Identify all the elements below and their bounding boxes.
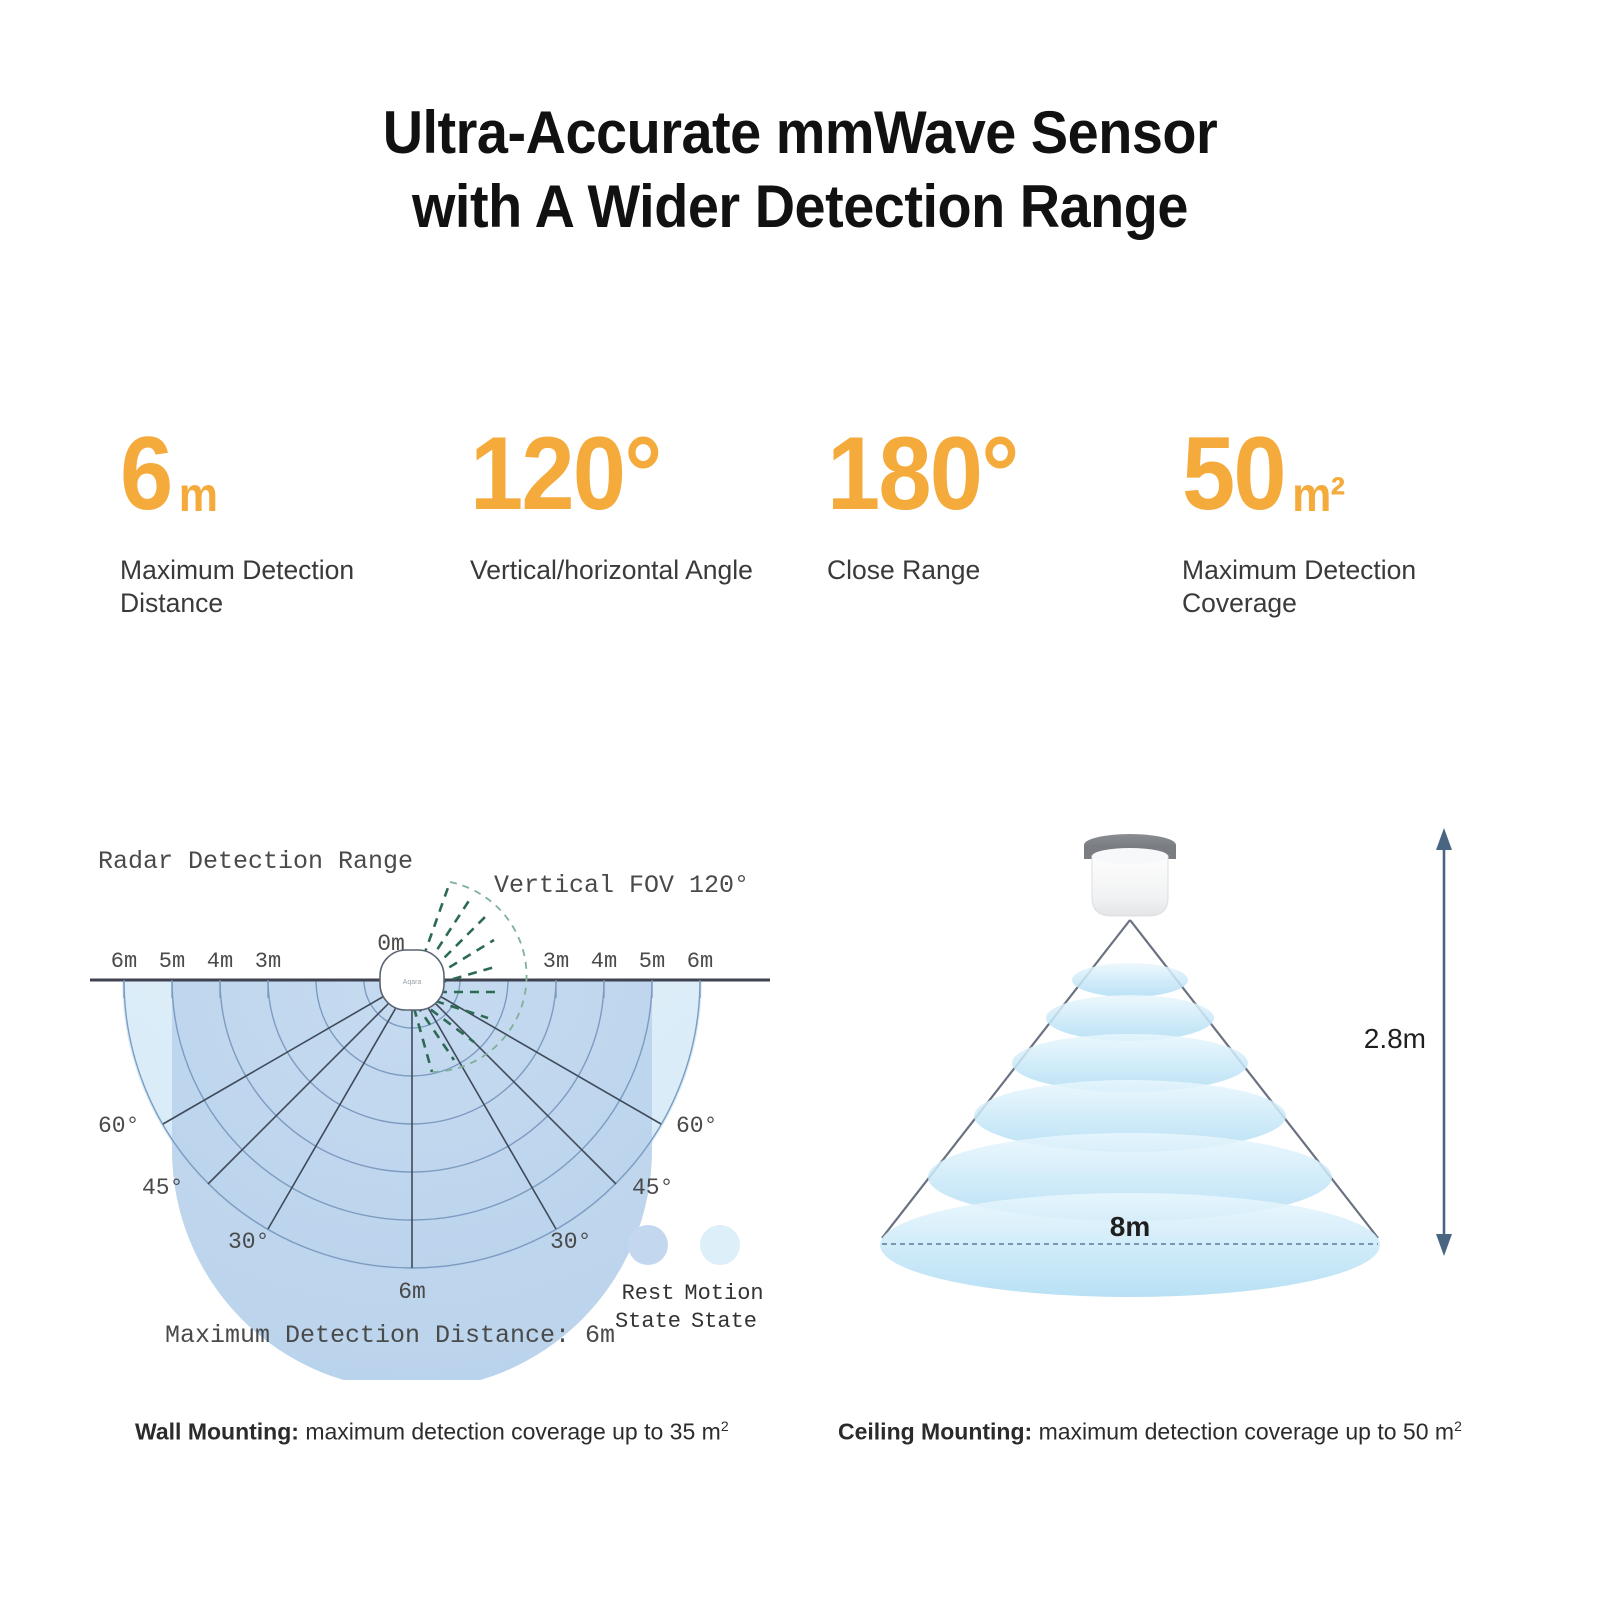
- angle-label-right-30: 30°: [550, 1229, 591, 1255]
- legend-swatch-rest-state: [628, 1225, 668, 1265]
- bottom-radius-label: 6m: [398, 1279, 426, 1305]
- wall-sensor-device: Aqara: [380, 950, 444, 1010]
- stat-label: Vertical/horizontal Angle: [470, 554, 770, 587]
- angle-label-left-45: 45°: [142, 1175, 183, 1201]
- wall-caption-bold: Wall Mounting:: [135, 1419, 299, 1445]
- page-title: Ultra-Accurate mmWave Sensor with A Wide…: [56, 96, 1544, 244]
- stat-value: 50: [1182, 422, 1285, 526]
- stat-label: Maximum Detection Coverage: [1182, 554, 1480, 620]
- scale-label-left-5m: 5m: [159, 949, 185, 974]
- radar-heading: Radar Detection Range: [98, 847, 413, 876]
- coverage-ellipse-stack: [880, 963, 1380, 1297]
- height-dimension-arrow: [1436, 828, 1452, 1256]
- wall-caption-text: maximum detection coverage up to 35 m: [299, 1419, 721, 1445]
- wall-mounting-caption: Wall Mounting: maximum detection coverag…: [135, 1418, 729, 1446]
- legend-swatch-motion-state: [700, 1225, 740, 1265]
- ceiling-mounting-diagram: 8m 2.8m: [830, 820, 1490, 1380]
- stat-unit: m: [171, 472, 217, 526]
- scale-label-left-6m: 6m: [111, 949, 137, 974]
- ceiling-sensor-device: [1084, 834, 1176, 916]
- sensor-brand-label: Aqara: [403, 979, 422, 986]
- stat-value-group: 6 m: [120, 430, 442, 526]
- height-arrow-head-top: [1436, 828, 1452, 850]
- height-label: 2.8m: [1364, 1023, 1426, 1054]
- legend-label-motion-line1: Motion: [684, 1281, 763, 1306]
- angle-label-left-60: 60°: [98, 1113, 139, 1139]
- spec-stats-row: 6 m Maximum Detection Distance 120 ° Ver…: [120, 430, 1480, 620]
- radar-footer-label: Maximum Detection Distance: 6m: [165, 1321, 615, 1350]
- diameter-label: 8m: [1110, 1211, 1150, 1242]
- ceiling-caption-bold: Ceiling Mounting:: [838, 1419, 1032, 1445]
- stat-value-group: 180 °: [827, 430, 1154, 526]
- sensor-body-top: [1092, 848, 1168, 864]
- stat-value: 6: [120, 422, 171, 526]
- stat-value-group: 120 °: [470, 430, 798, 526]
- stat-value: 180: [827, 422, 981, 526]
- height-arrow-head-bottom: [1436, 1234, 1452, 1256]
- scale-label-right-4m: 4m: [591, 949, 617, 974]
- ceiling-caption-superscript: 2: [1454, 1418, 1462, 1434]
- ceiling-mounting-caption: Ceiling Mounting: maximum detection cove…: [838, 1418, 1462, 1446]
- stat-unit: °: [981, 422, 1018, 526]
- mounting-captions: Wall Mounting: maximum detection coverag…: [0, 1418, 1600, 1468]
- stat-vertical-horizontal-angle: 120 ° Vertical/horizontal Angle: [470, 430, 827, 587]
- angle-label-right-60: 60°: [676, 1113, 717, 1139]
- legend-label-motion-line2: State: [691, 1309, 757, 1334]
- scale-label-left-4m: 4m: [207, 949, 233, 974]
- stat-max-detection-coverage: 50 m² Maximum Detection Coverage: [1182, 430, 1480, 620]
- wall-mounting-radar-diagram: Radar Detection Range Vertical FOV 120° …: [80, 820, 780, 1380]
- stat-unit: m²: [1285, 472, 1344, 526]
- page-title-line-2: with A Wider Detection Range: [56, 170, 1544, 244]
- wall-caption-superscript: 2: [721, 1418, 729, 1434]
- angle-label-right-45: 45°: [632, 1175, 673, 1201]
- coverage-ellipse-1: [1072, 963, 1188, 997]
- stat-max-detection-distance: 6 m Maximum Detection Distance: [120, 430, 470, 620]
- page-title-line-1: Ultra-Accurate mmWave Sensor: [56, 96, 1544, 170]
- vertical-fov-label: Vertical FOV 120°: [494, 871, 749, 900]
- scale-label-right-3m: 3m: [543, 949, 569, 974]
- detection-legend: Rest State Motion State: [615, 1225, 764, 1334]
- stat-unit: °: [624, 422, 661, 526]
- stat-label: Close Range: [827, 554, 1127, 587]
- legend-label-rest-line2: State: [615, 1309, 681, 1334]
- legend-label-rest-line1: Rest: [622, 1281, 675, 1306]
- stat-value-group: 50 m²: [1182, 430, 1456, 526]
- scale-label-left-3m: 3m: [255, 949, 281, 974]
- stat-label: Maximum Detection Distance: [120, 554, 420, 620]
- stat-value: 120: [470, 422, 624, 526]
- coverage-ellipse-6: [880, 1193, 1380, 1297]
- stat-close-range: 180 ° Close Range: [827, 430, 1182, 587]
- scale-label-right-6m: 6m: [687, 949, 713, 974]
- sensor-body: [1092, 856, 1168, 916]
- angle-label-left-30: 30°: [228, 1229, 269, 1255]
- ceiling-caption-text: maximum detection coverage up to 50 m: [1032, 1419, 1454, 1445]
- scale-label-right-5m: 5m: [639, 949, 665, 974]
- diagrams-area: Radar Detection Range Vertical FOV 120° …: [0, 820, 1600, 1460]
